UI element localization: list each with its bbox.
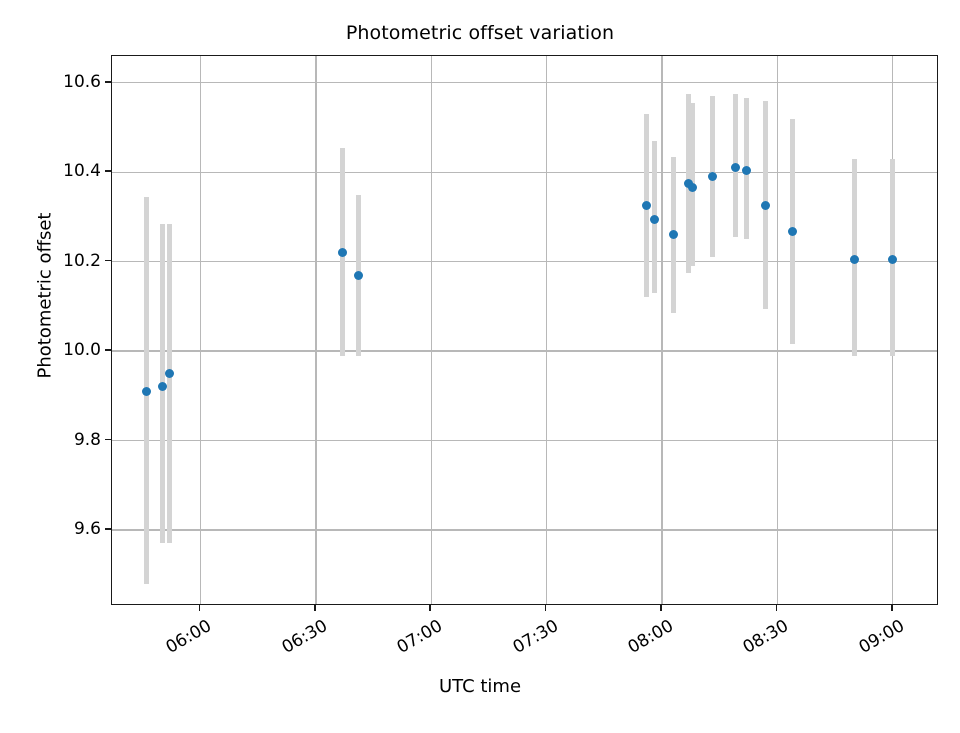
x-tick-mark [660,605,662,611]
data-point [338,248,347,257]
data-point [165,369,174,378]
data-point [731,163,740,172]
y-tick-mark [105,528,111,530]
gridline-vertical [661,56,662,604]
figure-canvas: Photometric offset variation 9.69.810.01… [0,0,960,720]
x-tick-mark [776,605,778,611]
data-point [142,387,151,396]
gridline-vertical [200,56,201,604]
y-tick-mark [105,349,111,351]
page-title: Photometric offset variation [0,22,960,44]
y-axis-label: Photometric offset [35,146,56,446]
gridline-horizontal [112,350,937,351]
gridline-horizontal [112,529,937,530]
gridline-horizontal [112,261,937,262]
data-point [850,255,859,264]
error-bar [167,224,172,544]
data-point [888,255,897,264]
data-point [788,227,797,236]
data-point [708,172,717,181]
y-tick-label: 10.4 [63,161,101,181]
x-tick-mark [545,605,547,611]
y-tick-label: 10.0 [63,340,101,360]
gridline-horizontal [112,82,937,83]
data-point [742,166,751,175]
data-point [761,201,770,210]
gridline-horizontal [112,172,937,173]
gridline-vertical [315,56,316,604]
y-tick-label: 9.6 [74,519,101,539]
data-point [688,183,697,192]
data-point [650,215,659,224]
data-point [158,382,167,391]
x-axis-label: UTC time [0,676,960,697]
y-tick-label: 9.8 [74,430,101,450]
x-tick-mark [891,605,893,611]
x-tick-mark [199,605,201,611]
data-point [354,271,363,280]
y-tick-mark [105,260,111,262]
data-point [669,230,678,239]
y-tick-mark [105,439,111,441]
gridline-vertical [431,56,432,604]
y-tick-mark [105,170,111,172]
y-tick-mark [105,81,111,83]
y-tick-label: 10.6 [63,72,101,92]
gridline-vertical [777,56,778,604]
data-point [642,201,651,210]
gridline-vertical [546,56,547,604]
x-tick-mark [429,605,431,611]
plot-area [111,55,938,605]
x-tick-mark [314,605,316,611]
y-tick-label: 10.2 [63,251,101,271]
gridline-horizontal [112,440,937,441]
